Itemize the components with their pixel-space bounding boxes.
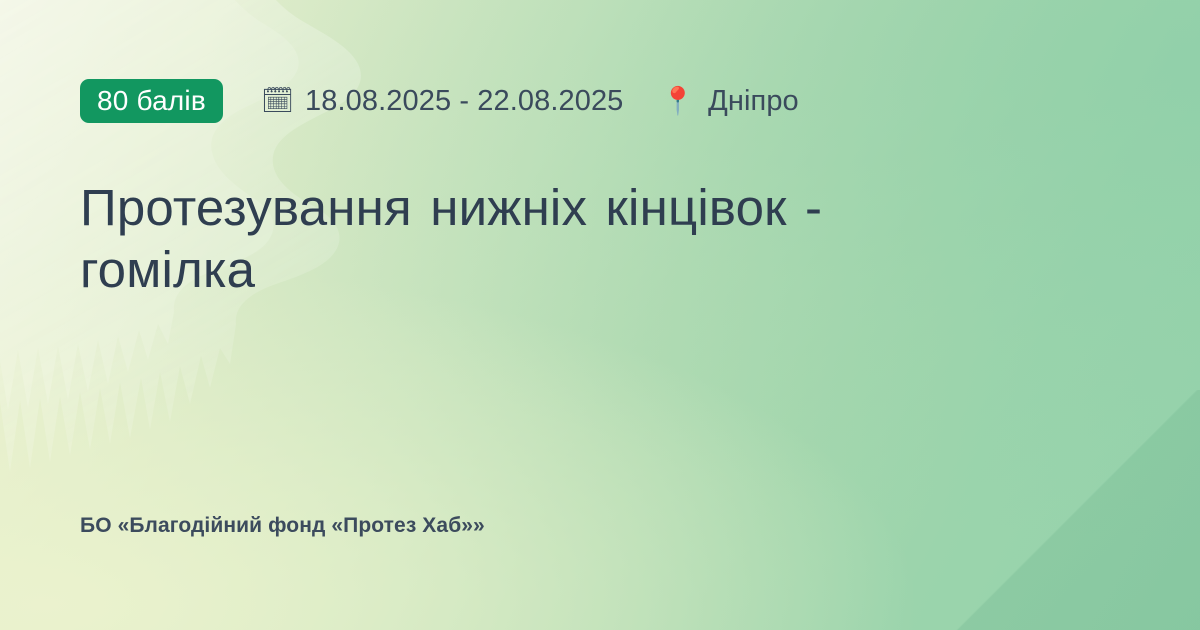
calendar-icon: 🗓 [261,88,294,114]
event-card: 80 балів 🗓 18.08.2025 - 22.08.2025 📍 Дні… [0,0,1200,630]
layout-spacer [80,301,1120,514]
location-pin-icon: 📍 [661,88,695,115]
meta-row: 80 балів 🗓 18.08.2025 - 22.08.2025 📍 Дні… [80,78,1120,124]
event-location: 📍 Дніпро [661,85,798,118]
event-title: Протезування нижніх кінцівок - гомілка [80,177,1010,301]
points-badge: 80 балів [80,79,223,123]
organizer-name: БО «Благодійний фонд «Протез Хаб»» [80,514,1120,538]
event-dates-text: 18.08.2025 - 22.08.2025 [305,85,623,118]
event-location-text: Дніпро [708,85,799,118]
card-content: 80 балів 🗓 18.08.2025 - 22.08.2025 📍 Дні… [0,0,1200,630]
event-dates: 🗓 18.08.2025 - 22.08.2025 [261,85,623,118]
